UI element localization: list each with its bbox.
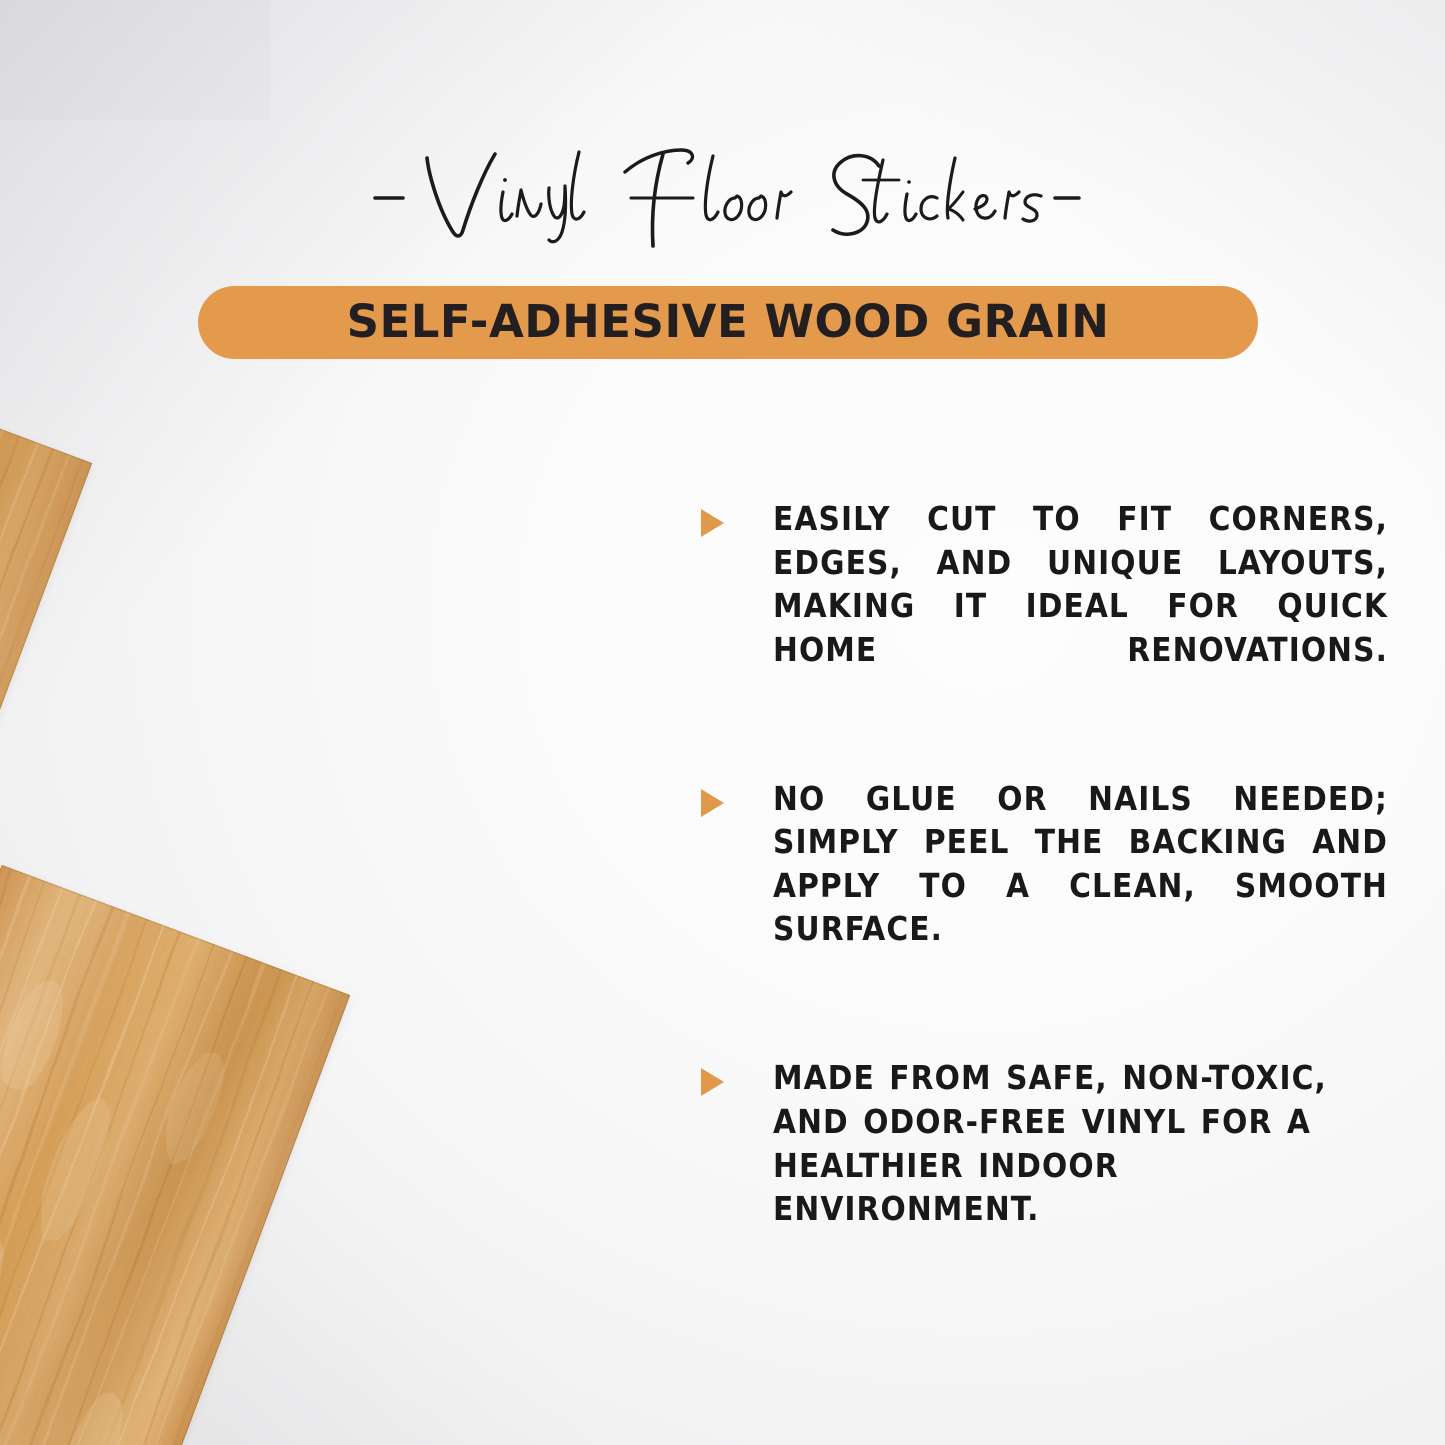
headline-banner: SELF-ADHESIVE WOOD GRAIN xyxy=(198,286,1258,359)
feature-item-1: EASILY CUT TO FIT CORNERS, EDGES, AND UN… xyxy=(698,497,1388,715)
feature-list: EASILY CUT TO FIT CORNERS, EDGES, AND UN… xyxy=(698,497,1388,1231)
triangle-right-icon xyxy=(701,789,724,817)
feature-item-2: NO GLUE OR NAILS NEEDED; SIMPLY PEEL THE… xyxy=(698,777,1388,995)
triangle-right-icon xyxy=(701,509,724,537)
script-title-artwork xyxy=(363,136,1083,254)
headline-banner-text: SELF-ADHESIVE WOOD GRAIN xyxy=(347,299,1110,344)
paper-grain-texture xyxy=(0,0,270,120)
feature-text-3: MADE FROM SAFE, NON-TOXIC, AND ODOR-FREE… xyxy=(773,1056,1388,1230)
triangle-right-icon xyxy=(701,1068,724,1096)
feature-item-3: MADE FROM SAFE, NON-TOXIC, AND ODOR-FREE… xyxy=(698,1056,1388,1230)
script-title: - Vinyl Floor Stickers - xyxy=(0,136,1445,256)
poster-canvas: - Vinyl Floor Stickers - xyxy=(0,0,1445,1445)
feature-text-2: NO GLUE OR NAILS NEEDED; SIMPLY PEEL THE… xyxy=(773,777,1388,995)
feature-text-1: EASILY CUT TO FIT CORNERS, EDGES, AND UN… xyxy=(773,497,1388,715)
plank-edge-lower xyxy=(0,865,350,1445)
wood-plank-lower xyxy=(0,865,350,1445)
